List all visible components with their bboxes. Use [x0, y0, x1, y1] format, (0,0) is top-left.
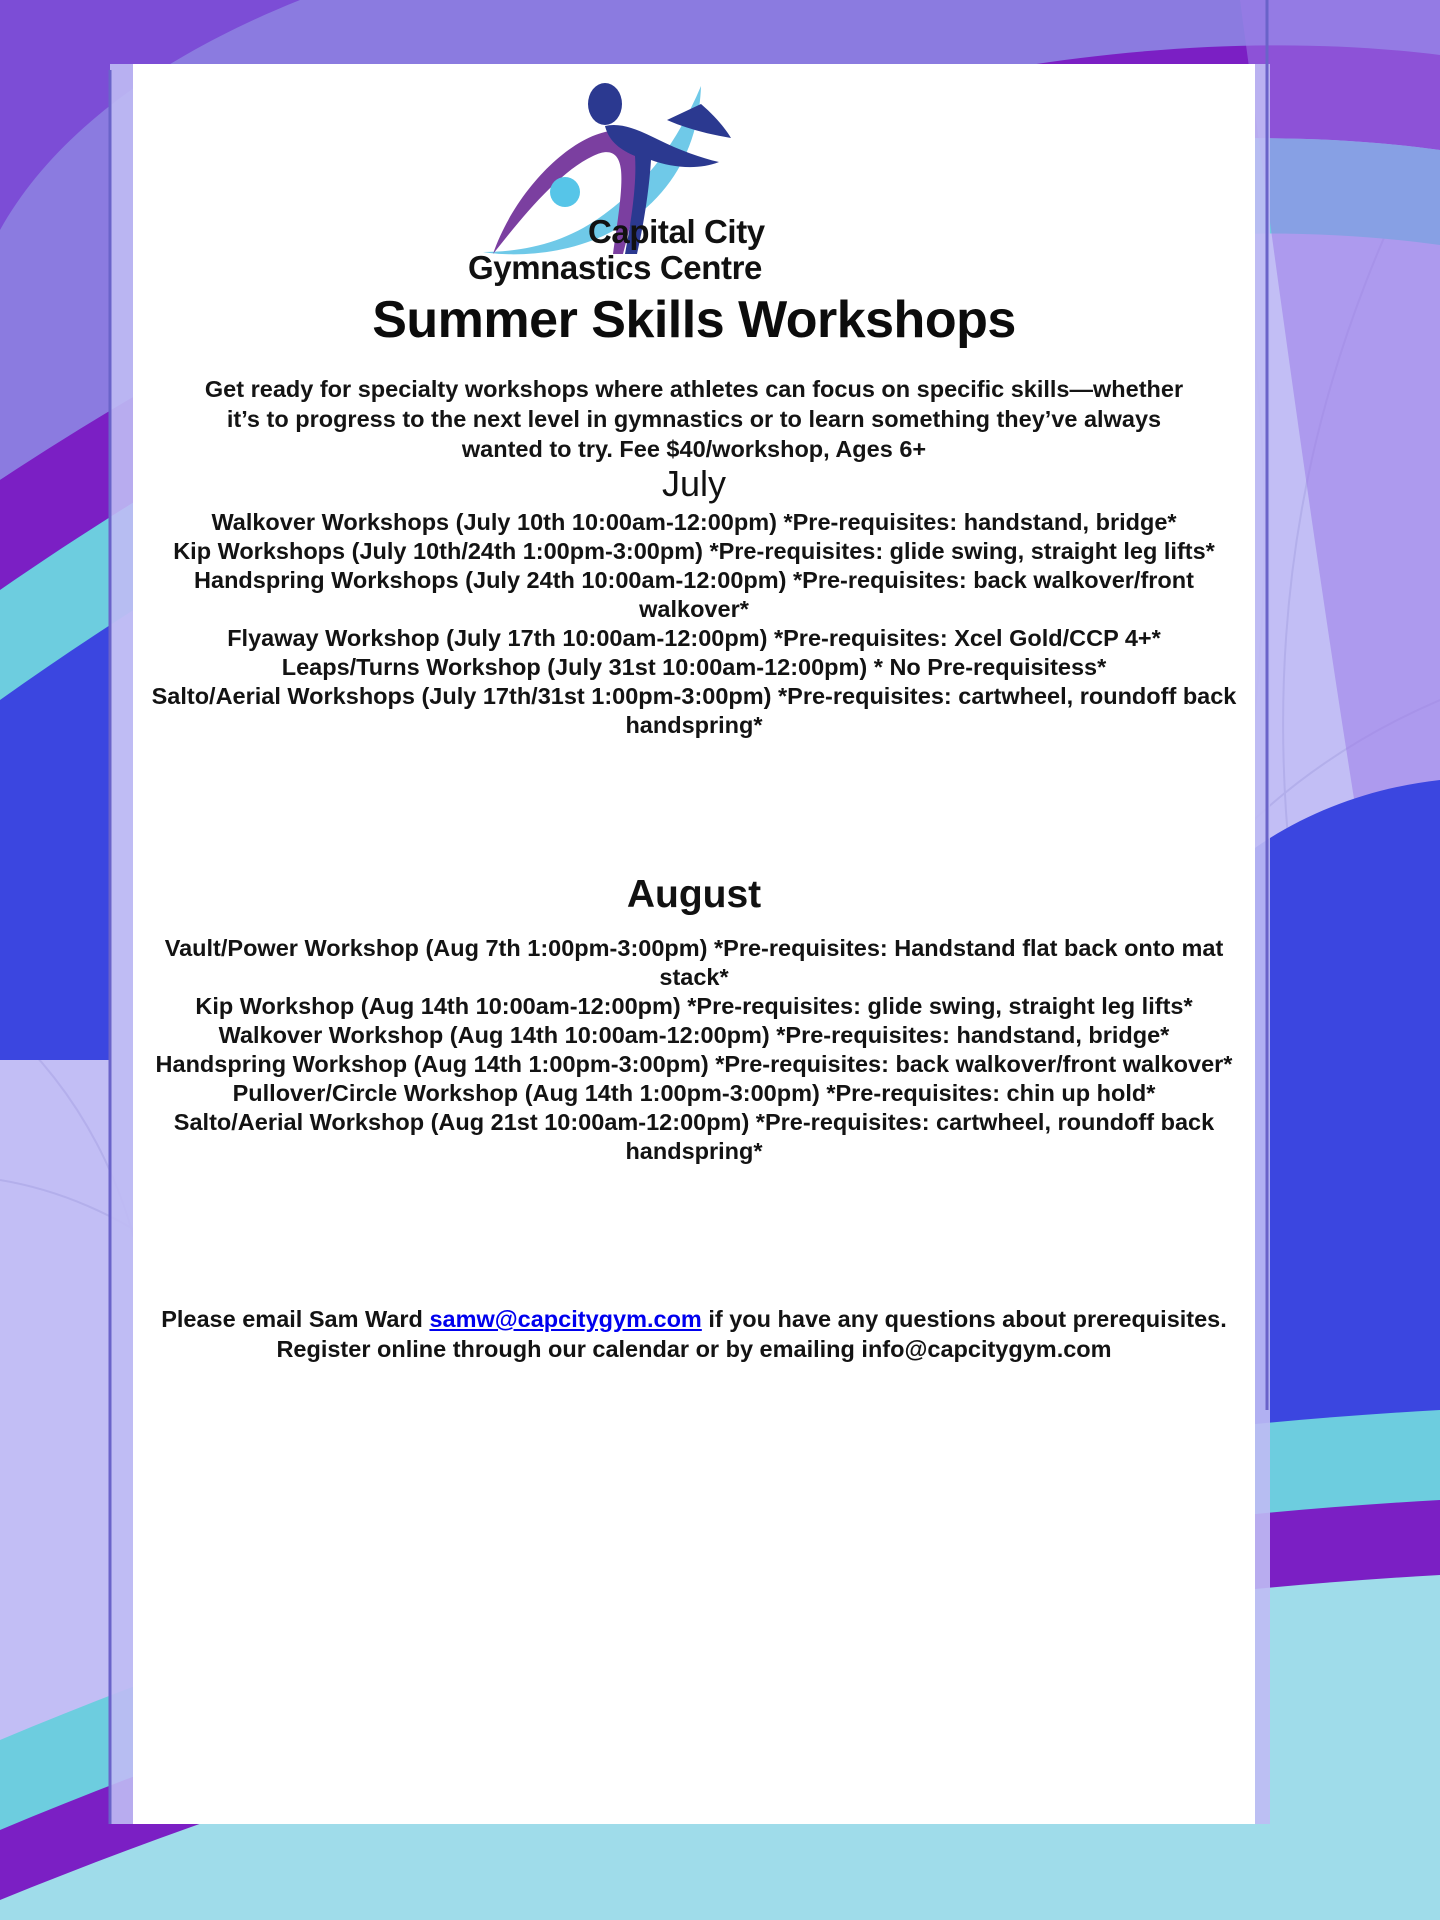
workshop-item: Flyaway Workshop (July 17th 10:00am-12:0… [143, 624, 1245, 653]
workshop-item: Salto/Aerial Workshops (July 17th/31st 1… [143, 682, 1245, 740]
workshop-item: Leaps/Turns Workshop (July 31st 10:00am-… [143, 653, 1245, 682]
logo-wordmark: Capital City Gymnastics Centre [433, 214, 993, 285]
contact-prefix: Please email Sam Ward [161, 1306, 429, 1332]
page-title: Summer Skills Workshops [133, 290, 1255, 350]
logo-line-2: Gymnastics Centre [433, 250, 993, 286]
poster-canvas: Capital City Gymnastics Centre Summer Sk… [0, 0, 1440, 1920]
workshop-list-july: Walkover Workshops (July 10th 10:00am-12… [143, 508, 1245, 740]
workshop-item: Vault/Power Workshop (Aug 7th 1:00pm-3:0… [143, 934, 1245, 992]
intro-paragraph: Get ready for specialty workshops where … [188, 374, 1200, 464]
contact-line: Please email Sam Ward samw@capcitygym.co… [143, 1304, 1245, 1334]
contact-suffix: if you have any questions about prerequi… [702, 1306, 1227, 1332]
workshop-item: Pullover/Circle Workshop (Aug 14th 1:00p… [143, 1079, 1245, 1108]
workshop-item: Walkover Workshops (July 10th 10:00am-12… [143, 508, 1245, 537]
workshop-item: Kip Workshops (July 10th/24th 1:00pm-3:0… [143, 537, 1245, 566]
section-heading-july: July [133, 464, 1255, 504]
content-card: Capital City Gymnastics Centre Summer Sk… [133, 64, 1255, 1824]
register-line: Register online through our calendar or … [143, 1334, 1245, 1364]
workshop-item: Handspring Workshop (Aug 14th 1:00pm-3:0… [143, 1050, 1245, 1079]
workshop-item: Walkover Workshop (Aug 14th 10:00am-12:0… [143, 1021, 1245, 1050]
logo-block: Capital City Gymnastics Centre [133, 64, 1255, 324]
workshop-item: Salto/Aerial Workshop (Aug 21st 10:00am-… [143, 1108, 1245, 1166]
footer-contact: Please email Sam Ward samw@capcitygym.co… [143, 1304, 1245, 1364]
logo-line-1: Capital City [433, 214, 993, 250]
section-heading-august: August [133, 874, 1255, 917]
workshop-list-august: Vault/Power Workshop (Aug 7th 1:00pm-3:0… [143, 934, 1245, 1166]
workshop-item: Kip Workshop (Aug 14th 10:00am-12:00pm) … [143, 992, 1245, 1021]
workshop-item: Handspring Workshops (July 24th 10:00am-… [143, 566, 1245, 624]
contact-email-link[interactable]: samw@capcitygym.com [429, 1306, 701, 1332]
